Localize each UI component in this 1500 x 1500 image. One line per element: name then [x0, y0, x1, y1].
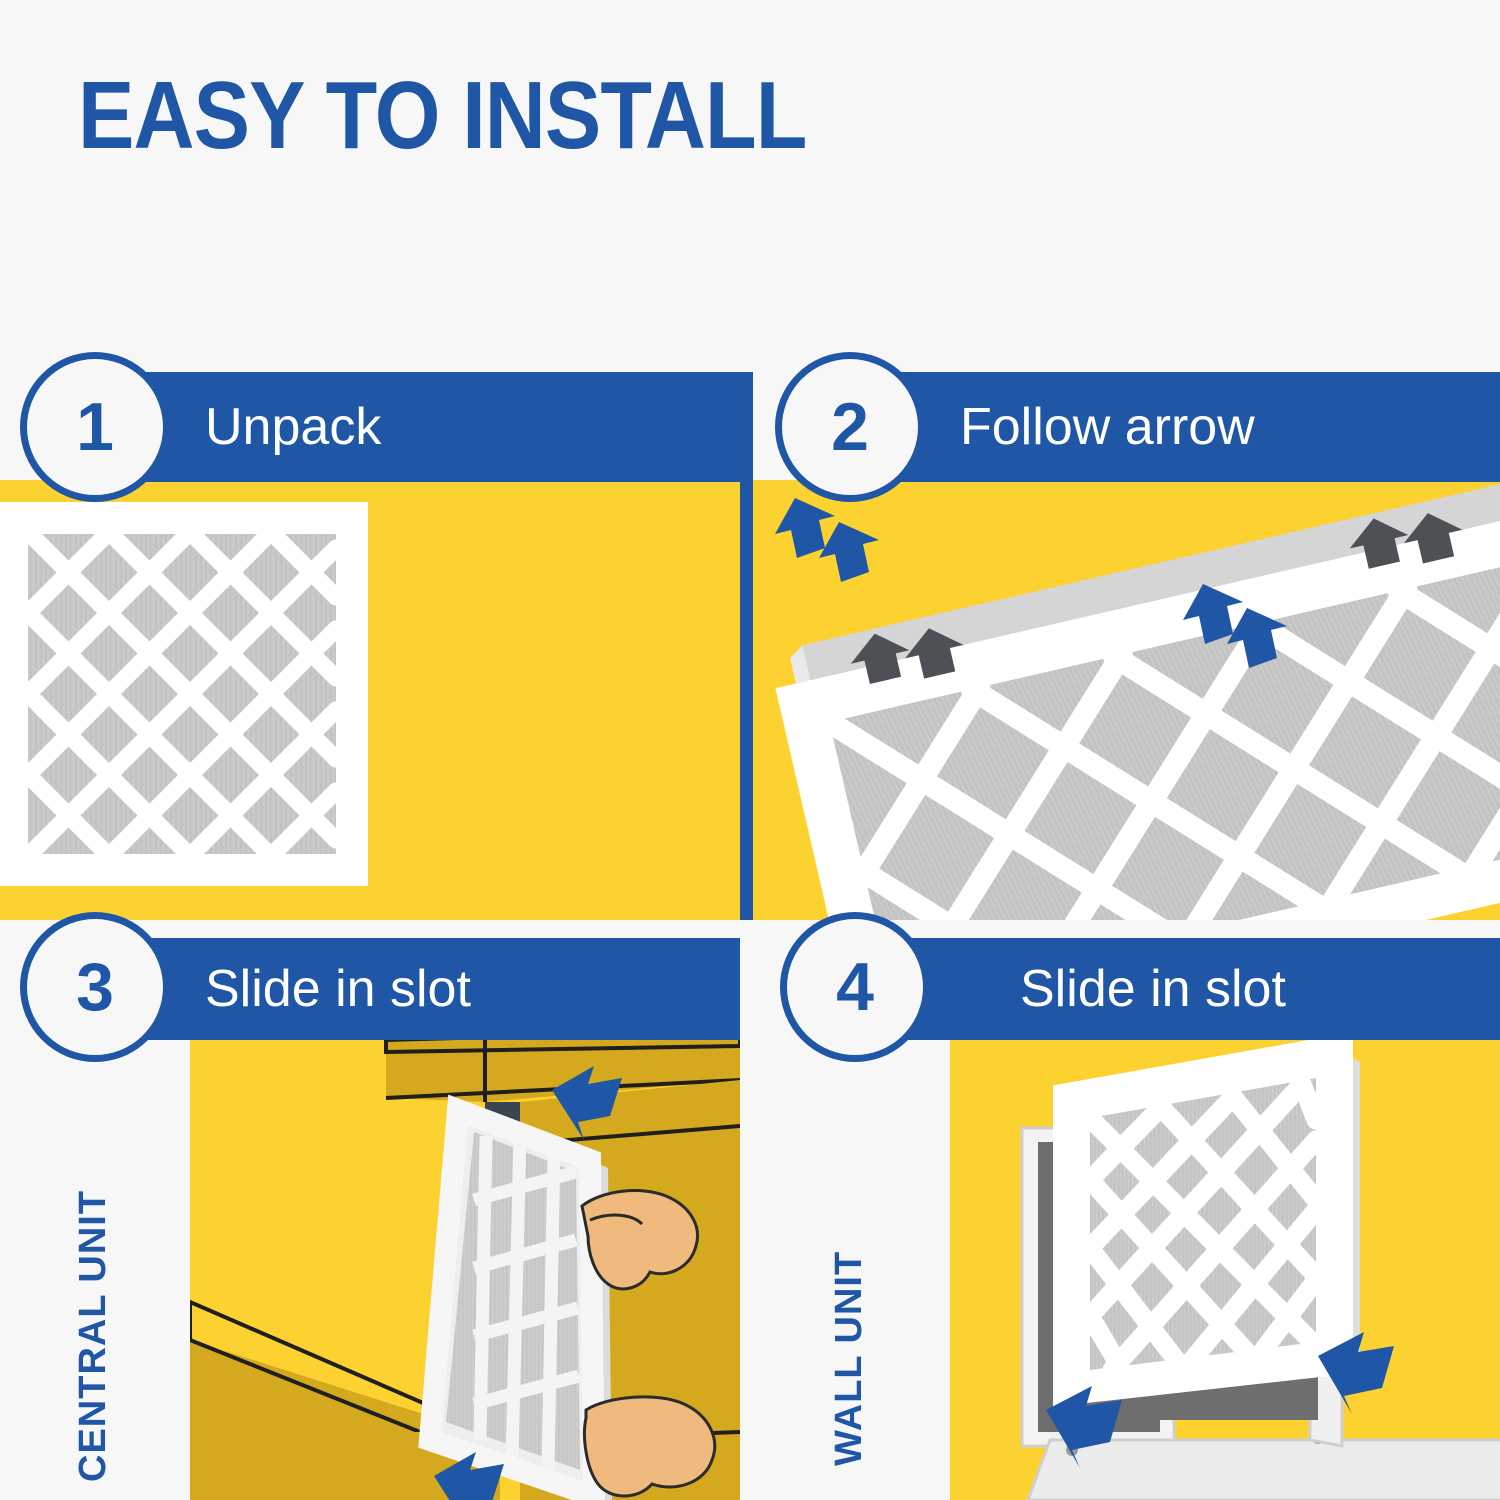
step-1-number: 1	[76, 393, 114, 461]
panel-1-illustration	[0, 480, 740, 920]
step-2-header: Follow arrow	[840, 372, 1500, 482]
panel-3-illustration	[190, 1040, 740, 1500]
step-4-number: 4	[836, 953, 874, 1021]
step-3-number: 3	[76, 953, 114, 1021]
step-2-badge: 2	[775, 352, 925, 502]
page-title: EASY TO INSTALL	[78, 68, 806, 164]
step-4-side-label: WALL UNIT	[828, 1251, 871, 1466]
step-1-badge: 1	[20, 352, 170, 502]
hand-lower	[585, 1397, 715, 1496]
step-4-header: Slide in slot	[900, 938, 1500, 1040]
filter-panel-4	[1068, 1050, 1360, 1390]
step-4-label: Slide in slot	[1020, 963, 1286, 1015]
step-panel-4	[950, 1040, 1500, 1500]
step-3-label: Slide in slot	[205, 963, 471, 1015]
step-panel-2	[753, 480, 1500, 920]
panel-4-illustration	[950, 1040, 1500, 1500]
step-panel-3	[190, 1040, 740, 1500]
airflow-arrow-blue-left	[775, 498, 879, 582]
step-panel-1	[0, 480, 740, 920]
panel-2-illustration	[753, 480, 1500, 920]
step-1-label: Unpack	[205, 401, 381, 453]
step-3-header: Slide in slot	[85, 938, 740, 1040]
step-1-header: Unpack	[85, 372, 740, 482]
column-divider	[740, 372, 753, 920]
step-3-side-label: CENTRAL UNIT	[72, 1190, 115, 1482]
step-2-number: 2	[831, 393, 869, 461]
step-2-label: Follow arrow	[960, 401, 1255, 453]
step-3-badge: 3	[20, 912, 170, 1062]
step-4-badge: 4	[780, 912, 930, 1062]
